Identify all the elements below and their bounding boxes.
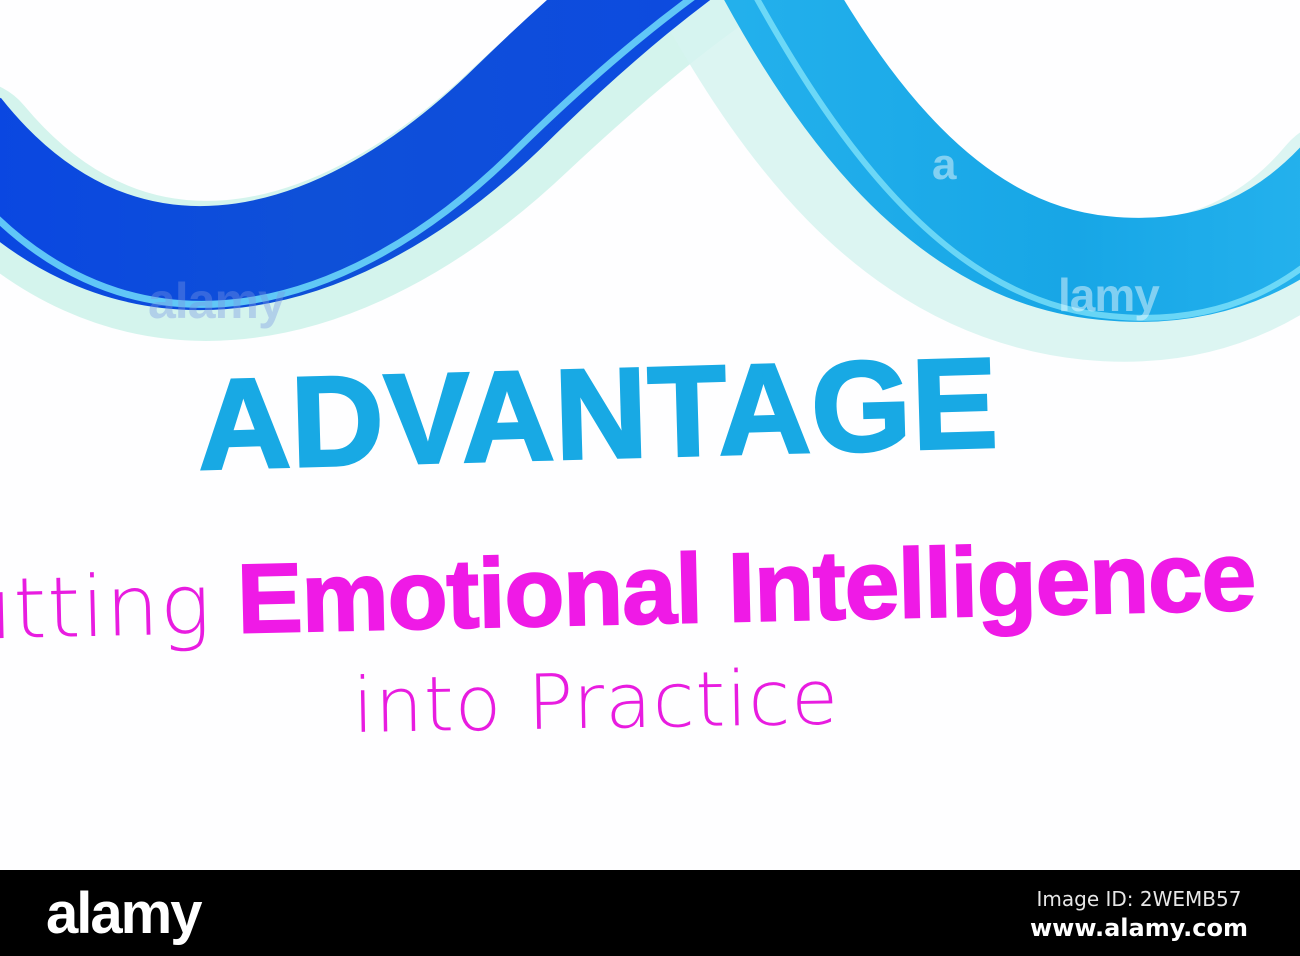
image-id-label: Image ID: 2WEMB57: [1014, 886, 1264, 913]
footer-meta: Image ID: 2WEMB57 www.alamy.com: [1014, 886, 1264, 944]
alamy-url: www.alamy.com: [1014, 913, 1264, 944]
decorative-ribbon-curves: [0, 0, 1300, 400]
alamy-footer-bar: alamy Image ID: 2WEMB57 www.alamy.com: [0, 870, 1300, 956]
cover-subline: utting Emotional Intelligence: [0, 527, 1256, 654]
alamy-logo: alamy: [46, 885, 200, 943]
cover-tagline: into Practice: [352, 660, 840, 744]
cover-subline-bold: Emotional Intelligence: [236, 527, 1256, 648]
book-cover-photo: alamy alam a lamy ADVANTAGE utting Emoti…: [0, 0, 1300, 870]
cover-subline-thin: utting: [0, 562, 212, 652]
screenshot-root: alamy alam a lamy ADVANTAGE utting Emoti…: [0, 0, 1300, 956]
cover-headline: ADVANTAGE: [196, 340, 1000, 490]
dark-blue-ribbon: [0, 0, 742, 258]
